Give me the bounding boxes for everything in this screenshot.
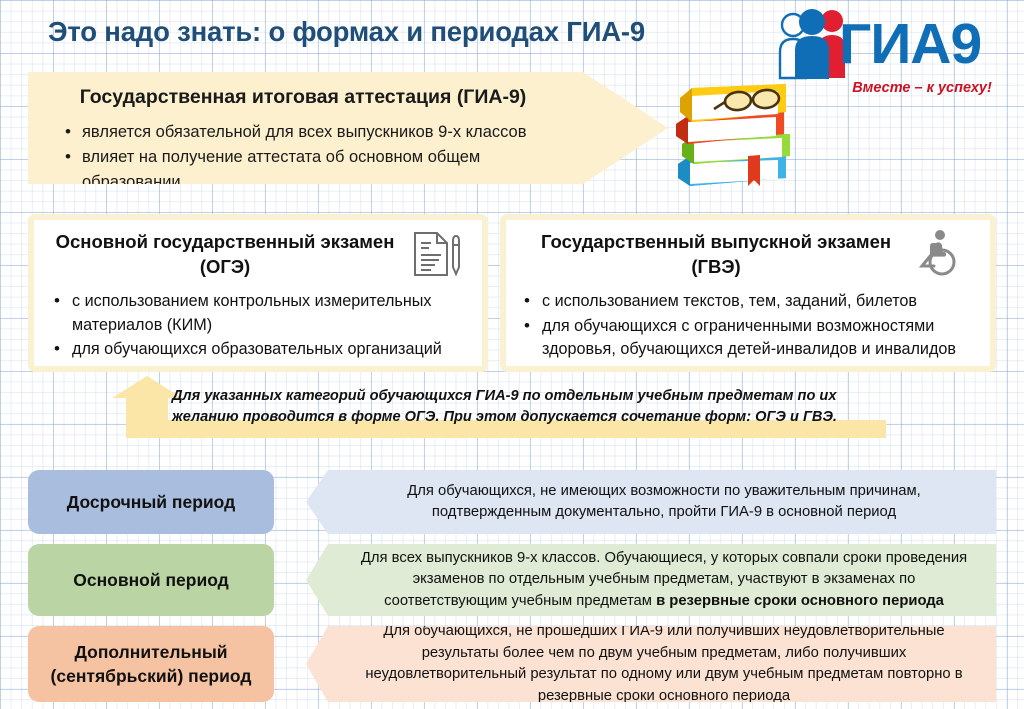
- period-description-early-text: Для обучающихся, не имеющих возможности …: [354, 481, 974, 524]
- period-label-main: Основной период: [28, 544, 274, 616]
- period-text-plain: Для обучающихся, не имеющих возможности …: [407, 483, 921, 521]
- gia9-definition-bullets: является обязательной для всех выпускник…: [62, 120, 572, 195]
- period-row-early: Досрочный период Для обучающихся, не име…: [28, 470, 996, 534]
- period-row-additional: Дополнительный (сентябрьский) период Для…: [28, 626, 996, 702]
- page-title: Это надо знать: о формах и периодах ГИА-…: [48, 16, 778, 48]
- period-description-main: Для всех выпускников 9-х классов. Обучаю…: [306, 544, 996, 616]
- period-description-additional-text: Для обучающихся, не прошедших ГИА-9 или …: [354, 621, 974, 707]
- exam-form-oge-card: Основной государственный экзамен (ОГЭ) с…: [28, 214, 488, 372]
- period-description-main-text: Для всех выпускников 9-х классов. Обучаю…: [354, 548, 974, 613]
- period-text-bold: в резервные сроки основного периода: [656, 593, 944, 609]
- exam-form-oge-title: Основной государственный экзамен (ОГЭ): [40, 229, 410, 279]
- combination-note-text: Для указанных категорий обучающихся ГИА-…: [172, 386, 872, 428]
- gia9-logo: ГИА9 Вместе – к успеху!: [777, 2, 1022, 106]
- gia9-definition-title: Государственная итоговая аттестация (ГИА…: [28, 86, 578, 109]
- logo-wordmark: ГИА9: [839, 11, 981, 77]
- list-item: для обучающихся образовательных организа…: [48, 338, 468, 362]
- exam-form-gve-card: Государственный выпускной экзамен (ГВЭ) …: [500, 214, 996, 372]
- stack-of-books-icon: [660, 60, 800, 195]
- gia9-definition-banner: Государственная итоговая аттестация (ГИА…: [28, 72, 668, 184]
- page-header: Это надо знать: о формах и периодах ГИА-…: [0, 0, 1024, 72]
- list-item: влияет на получение аттестата об основно…: [62, 145, 572, 195]
- list-item: с использованием контрольных измерительн…: [48, 290, 468, 337]
- document-and-pen-icon: [409, 229, 463, 284]
- period-description-early: Для обучающихся, не имеющих возможности …: [306, 470, 996, 534]
- period-label-additional: Дополнительный (сентябрьский) период: [28, 626, 274, 702]
- period-description-additional: Для обучающихся, не прошедших ГИА-9 или …: [306, 626, 996, 702]
- period-text-plain: Для обучающихся, не прошедших ГИА-9 или …: [365, 623, 962, 704]
- exam-form-gve-title: Государственный выпускной экзамен (ГВЭ): [516, 229, 916, 279]
- wheelchair-accessibility-icon: [910, 228, 960, 283]
- logo-tagline: Вместе – к успеху!: [822, 80, 1022, 96]
- list-item: является обязательной для всех выпускник…: [62, 120, 572, 145]
- period-row-main: Основной период Для всех выпускников 9-х…: [28, 544, 996, 616]
- exam-form-gve-bullets: с использованием текстов, тем, заданий, …: [518, 290, 978, 363]
- list-item: с использованием текстов, тем, заданий, …: [518, 290, 978, 314]
- period-label-early: Досрочный период: [28, 470, 274, 534]
- exam-form-oge-bullets: с использованием контрольных измерительн…: [48, 290, 468, 363]
- list-item: для обучающихся с ограниченными возможно…: [518, 315, 978, 362]
